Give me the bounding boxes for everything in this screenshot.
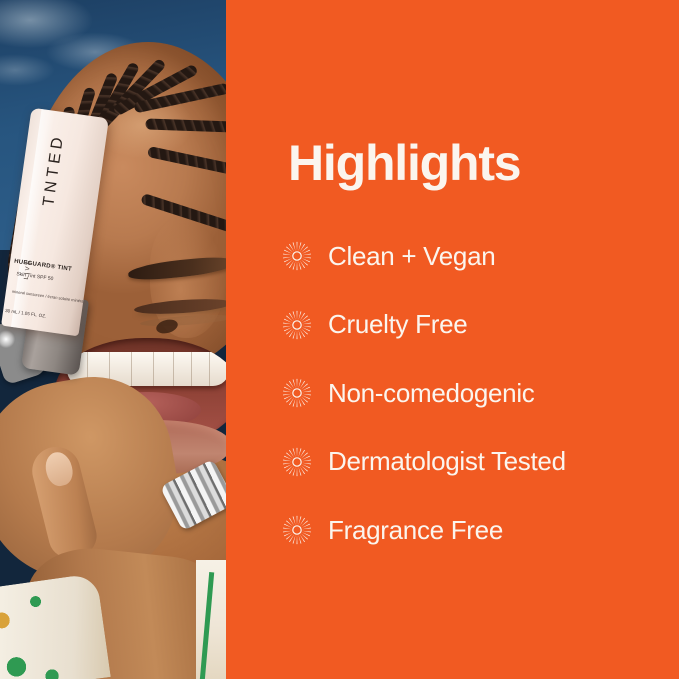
list-item-label: Cruelty Free: [328, 310, 467, 339]
list-item: Cruelty Free: [282, 291, 679, 360]
sunburst-icon: [282, 241, 312, 271]
sunburst-icon: [282, 378, 312, 408]
list-item-label: Clean + Vegan: [328, 242, 495, 271]
list-item-label: Fragrance Free: [328, 516, 503, 545]
list-item: Clean + Vegan: [282, 222, 679, 291]
product-lifestyle-photo: TNTED LIVE HUEGUARD® TINT Skin Tint SPF …: [0, 0, 226, 679]
sunburst-icon: [282, 310, 312, 340]
list-item: Fragrance Free: [282, 496, 679, 565]
list-item-label: Dermatologist Tested: [328, 447, 566, 476]
highlights-panel: Highlights Clean + Vegan Cruelty Free No…: [226, 0, 679, 679]
patterned-shirt-left: [0, 573, 111, 679]
sunburst-icon: [282, 515, 312, 545]
list-item-label: Non-comedogenic: [328, 379, 535, 408]
page-title: Highlights: [288, 138, 520, 188]
sunburst-icon: [282, 447, 312, 477]
list-item: Non-comedogenic: [282, 359, 679, 428]
product-highlights-screenshot: TNTED LIVE HUEGUARD® TINT Skin Tint SPF …: [0, 0, 679, 679]
highlights-list: Clean + Vegan Cruelty Free Non-comedogen…: [282, 222, 679, 565]
list-item: Dermatologist Tested: [282, 428, 679, 497]
